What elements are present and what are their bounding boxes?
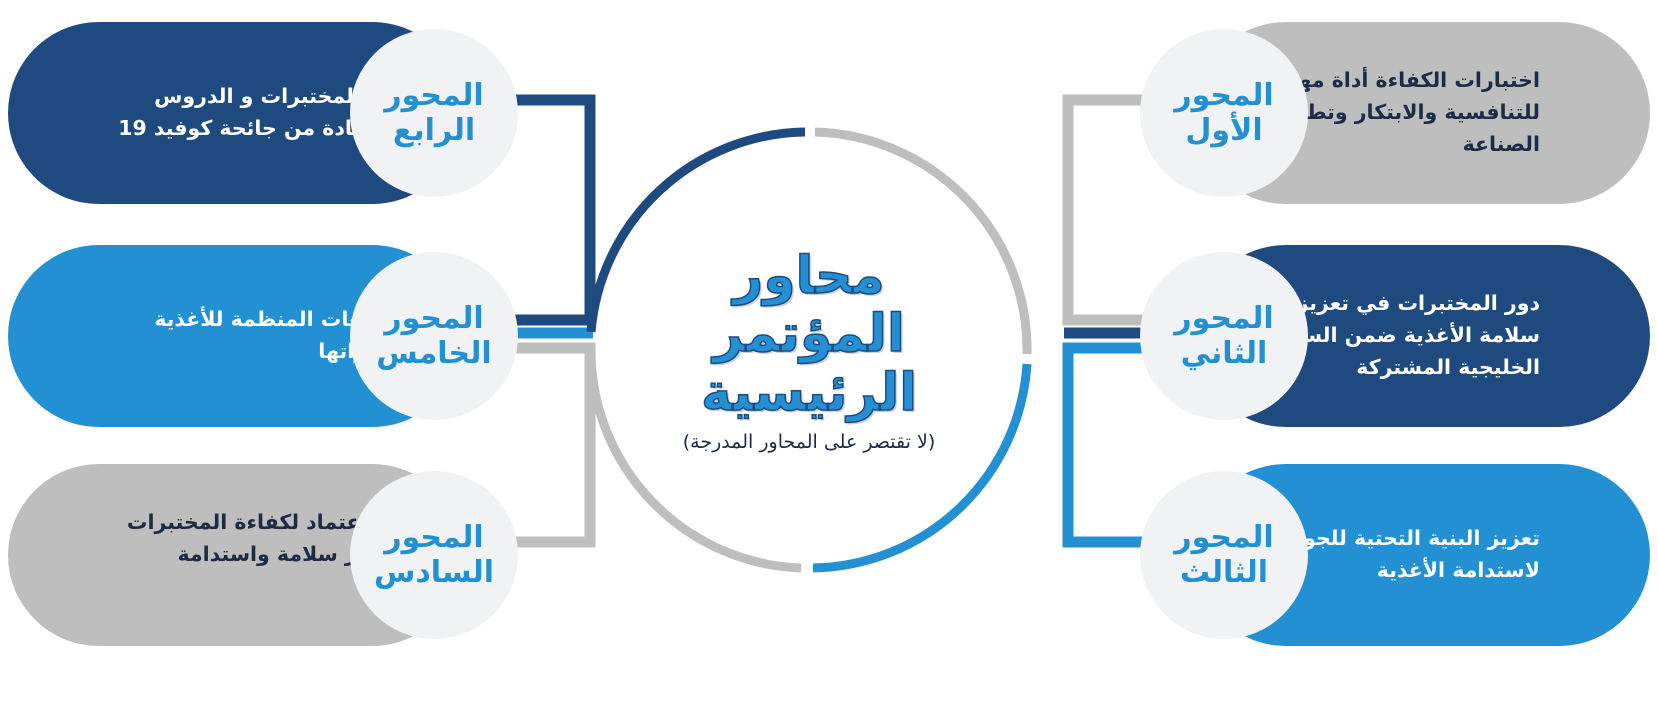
- axis-item-2[interactable]: دور المختبرات في تعزيز سلامة الأغذية ضمن…: [1140, 245, 1650, 427]
- axis-2-badge[interactable]: المحور الثاني: [1140, 252, 1308, 420]
- axis-6-badge[interactable]: المحور السادس: [350, 471, 518, 639]
- axis-item-3[interactable]: تعزيز البنية التحتية للجودة لاستدامة الأ…: [1140, 464, 1650, 646]
- axis-6-badge-line-2: السادس: [374, 555, 494, 590]
- axis-1-badge[interactable]: المحور الأول: [1140, 29, 1308, 197]
- axis-4-badge-line-1: المحور: [384, 78, 483, 113]
- hub-arc-navy: [591, 132, 805, 332]
- axis-item-1[interactable]: اختبارات الكفاءة أداة مهمة للتنافسية وال…: [1140, 22, 1650, 204]
- axis-4-badge-line-2: الرابع: [393, 113, 475, 148]
- hub-arc-blue: [813, 364, 1027, 568]
- hub-ring: [583, 124, 1035, 576]
- hub-arc-gray-top: [815, 132, 1027, 354]
- axis-4-badge[interactable]: المحور الرابع: [350, 29, 518, 197]
- axis-2-badge-line-2: الثاني: [1181, 336, 1268, 371]
- axis-3-badge-line-1: المحور: [1174, 520, 1273, 555]
- axis-1-badge-line-2: الأول: [1185, 113, 1262, 148]
- axis-6-badge-line-1: المحور: [384, 520, 483, 555]
- center-hub: محاور المؤتمر الرئيسية (لا تقتصر على الم…: [583, 124, 1035, 576]
- connector-axis-6: [506, 348, 590, 542]
- axis-1-badge-line-1: المحور: [1174, 78, 1273, 113]
- hub-arc-gray-bottom: [591, 346, 801, 568]
- connector-axis-4: [506, 100, 590, 320]
- axis-item-4[interactable]: كفاءة المختبرات و الدروس المستفادة من جا…: [8, 22, 518, 204]
- axis-5-badge-line-1: المحور: [384, 301, 483, 336]
- axis-5-badge-line-2: الخامس: [376, 336, 491, 371]
- axis-item-6[interactable]: دور الاعتماد لكفاءة المختبرات بما يعزز س…: [8, 464, 518, 646]
- axis-5-badge[interactable]: المحور الخامس: [350, 252, 518, 420]
- axis-3-badge[interactable]: المحور الثالث: [1140, 471, 1308, 639]
- axis-2-badge-line-1: المحور: [1174, 301, 1273, 336]
- conference-axes-infographic: محاور المؤتمر الرئيسية (لا تقتصر على الم…: [0, 0, 1658, 701]
- axis-3-badge-line-2: الثالث: [1180, 555, 1268, 590]
- axis-item-5[interactable]: التشريعات المنظمة للأغذية واختباراتها ال…: [8, 245, 518, 427]
